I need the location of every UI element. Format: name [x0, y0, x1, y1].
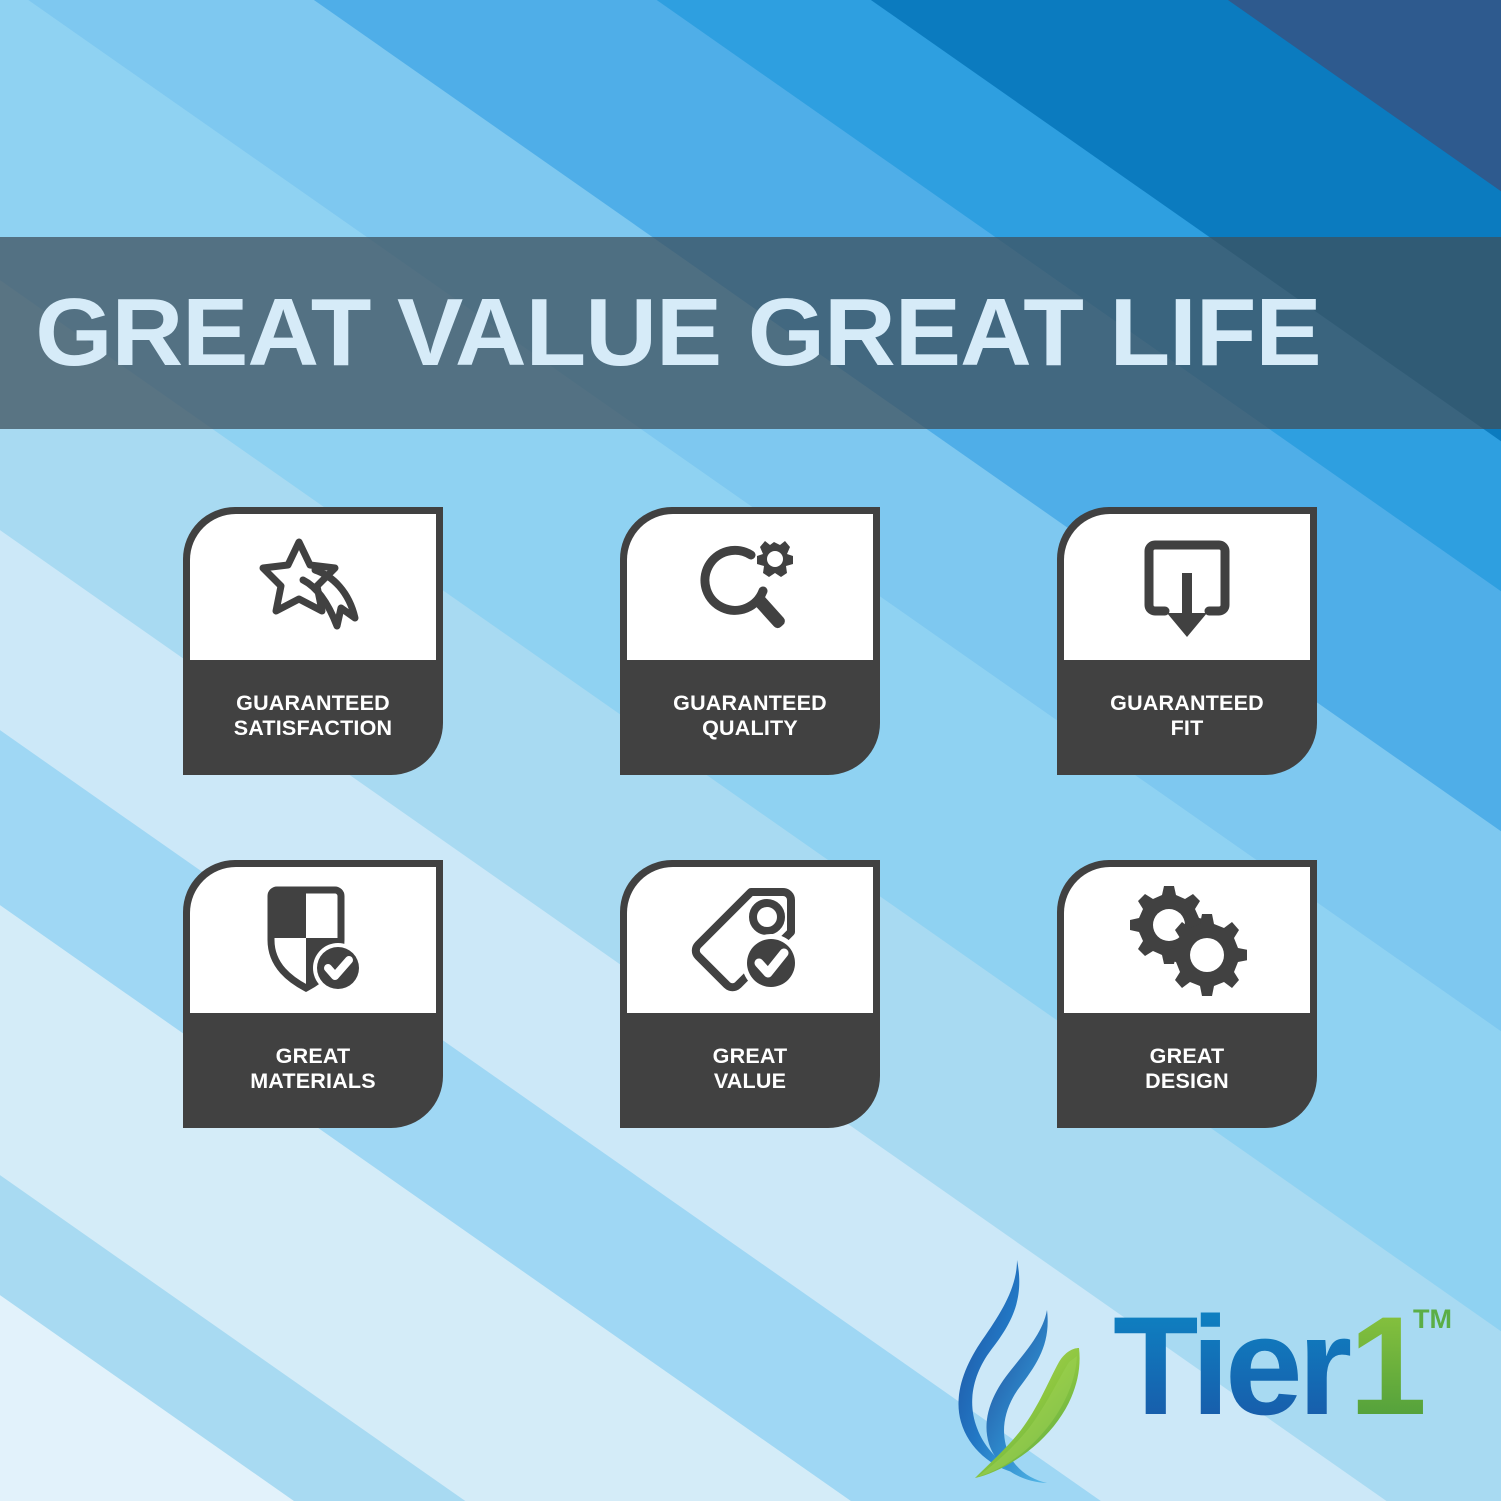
feature-card-great-materials[interactable]: GREAT MATERIALS	[183, 860, 443, 1128]
fit-arrow-icon	[1137, 533, 1237, 641]
card-label: GUARANTEED QUALITY	[620, 660, 880, 775]
trademark-symbol: TM	[1413, 1304, 1452, 1334]
headline-banner: GREAT VALUE GREAT LIFE	[0, 237, 1501, 429]
magnifier-gear-icon	[691, 533, 809, 641]
icon-panel	[627, 514, 873, 660]
icon-panel	[1064, 867, 1310, 1013]
feature-card-great-design[interactable]: GREAT DESIGN	[1057, 860, 1317, 1128]
price-tag-check-icon	[691, 884, 809, 996]
feature-card-guaranteed-fit[interactable]: GUARANTEED FIT	[1057, 507, 1317, 775]
icon-panel	[190, 867, 436, 1013]
feature-card-guaranteed-satisfaction[interactable]: GUARANTEED SATISFACTION	[183, 507, 443, 775]
feature-card-guaranteed-quality[interactable]: GUARANTEED QUALITY	[620, 507, 880, 775]
feature-card-great-value[interactable]: GREAT VALUE	[620, 860, 880, 1128]
card-label: GUARANTEED SATISFACTION	[183, 660, 443, 775]
card-label: GUARANTEED FIT	[1057, 660, 1317, 775]
feature-row-top: GUARANTEED SATISFACTION	[183, 507, 1343, 775]
icon-panel	[1064, 514, 1310, 660]
shooting-star-icon	[253, 532, 373, 642]
icon-panel	[190, 514, 436, 660]
gears-icon	[1127, 884, 1247, 996]
promo-graphic: GREAT VALUE GREAT LIFE GUARANTE	[0, 0, 1501, 1501]
icon-panel	[627, 867, 873, 1013]
logo-text-tier: Tier	[1113, 1290, 1351, 1444]
card-label: GREAT MATERIALS	[183, 1013, 443, 1128]
page-title: GREAT VALUE GREAT LIFE	[0, 285, 1321, 381]
card-label: GREAT DESIGN	[1057, 1013, 1317, 1128]
tier1-droplet-leaf-logo	[955, 1252, 1105, 1487]
card-label: GREAT VALUE	[620, 1013, 880, 1128]
tier1-wordmark: Tier 1 TM	[1113, 1290, 1465, 1450]
tier1-logo[interactable]: Tier 1 TM	[955, 1252, 1465, 1487]
feature-row-bottom: GREAT MATERIALS GREAT VALUE	[183, 860, 1343, 1128]
shield-check-icon	[257, 884, 369, 996]
feature-card-grid: GUARANTEED SATISFACTION	[183, 507, 1343, 1213]
